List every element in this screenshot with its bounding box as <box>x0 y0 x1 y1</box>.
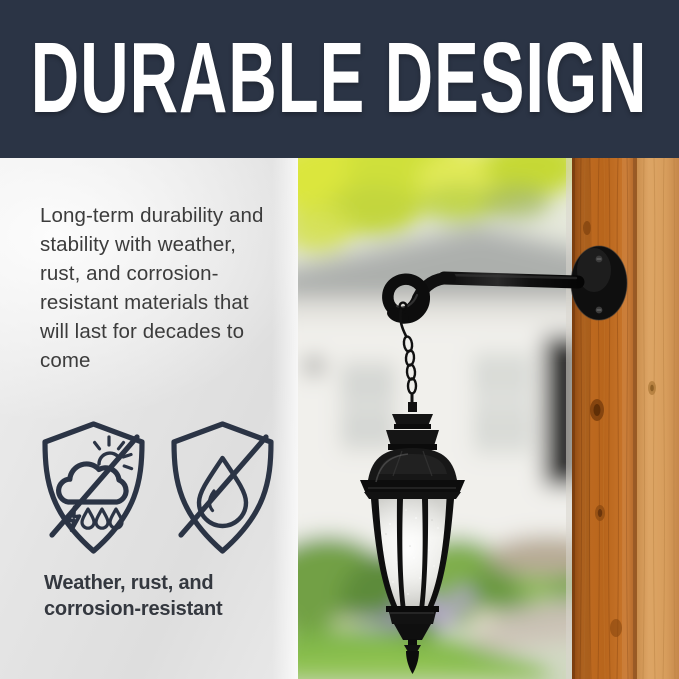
cloud-shape <box>59 464 126 502</box>
feature-caption: Weather, rust, and corrosion-resistant <box>44 570 294 622</box>
shield-no-weather-icon <box>38 420 149 555</box>
feature-icon-row <box>38 420 278 555</box>
left-info-panel: Long-term durability and stability with … <box>0 158 298 679</box>
wooden-post <box>566 158 679 679</box>
product-photo <box>298 158 679 679</box>
product-photo-illustration <box>298 158 679 679</box>
header-banner: DURABLE DESIGN <box>0 0 679 158</box>
body-area: Long-term durability and stability with … <box>0 158 679 679</box>
page-title: DURABLE DESIGN <box>31 29 648 129</box>
shield-no-water-icon <box>167 420 278 555</box>
description-text: Long-term durability and stability with … <box>40 201 276 375</box>
product-feature-banner: DURABLE DESIGN Long-term durability and … <box>0 0 679 679</box>
